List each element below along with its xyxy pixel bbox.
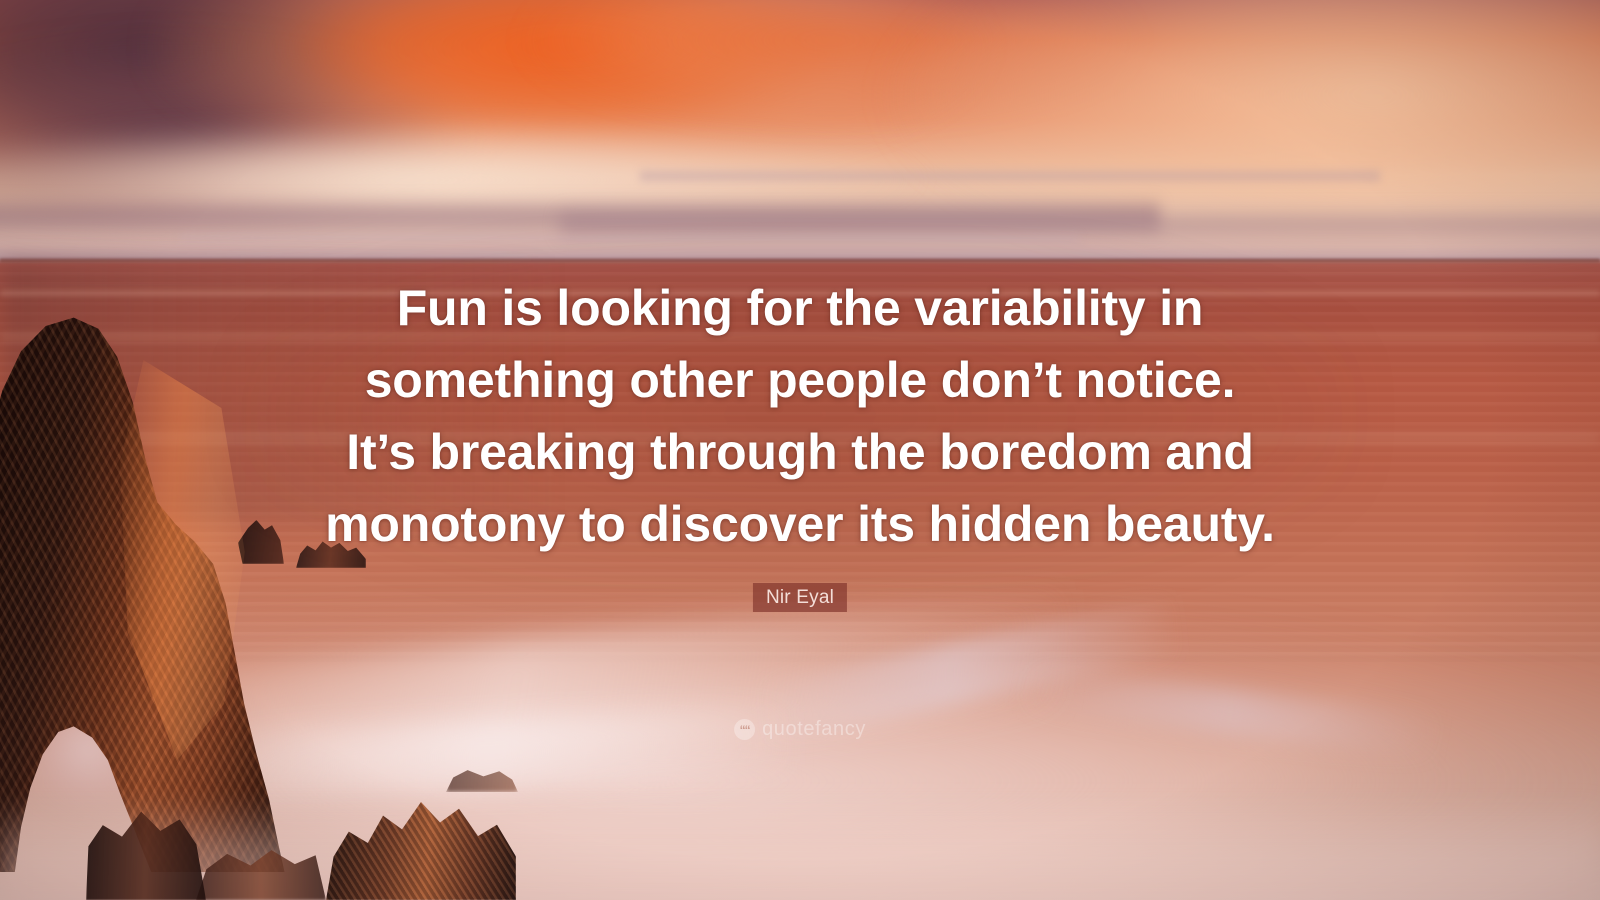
card-content: Fun is looking for the variability in so… (0, 0, 1600, 900)
quote-card: Fun is looking for the variability in so… (0, 0, 1600, 900)
quote-line-2: something other people don’t notice. (310, 344, 1290, 416)
quotefancy-watermark[interactable]: ““ quotefancy (734, 718, 866, 741)
quote-mark-icon: ““ (734, 719, 755, 740)
quote-text: Fun is looking for the variability in so… (310, 272, 1290, 560)
author-badge[interactable]: Nir Eyal (753, 583, 847, 612)
quote-line-4: monotony to discover its hidden beauty. (310, 488, 1290, 560)
quote-line-1: Fun is looking for the variability in (310, 272, 1290, 344)
quote-line-3: It’s breaking through the boredom and (310, 416, 1290, 488)
watermark-brand-label: quotefancy (762, 718, 866, 741)
